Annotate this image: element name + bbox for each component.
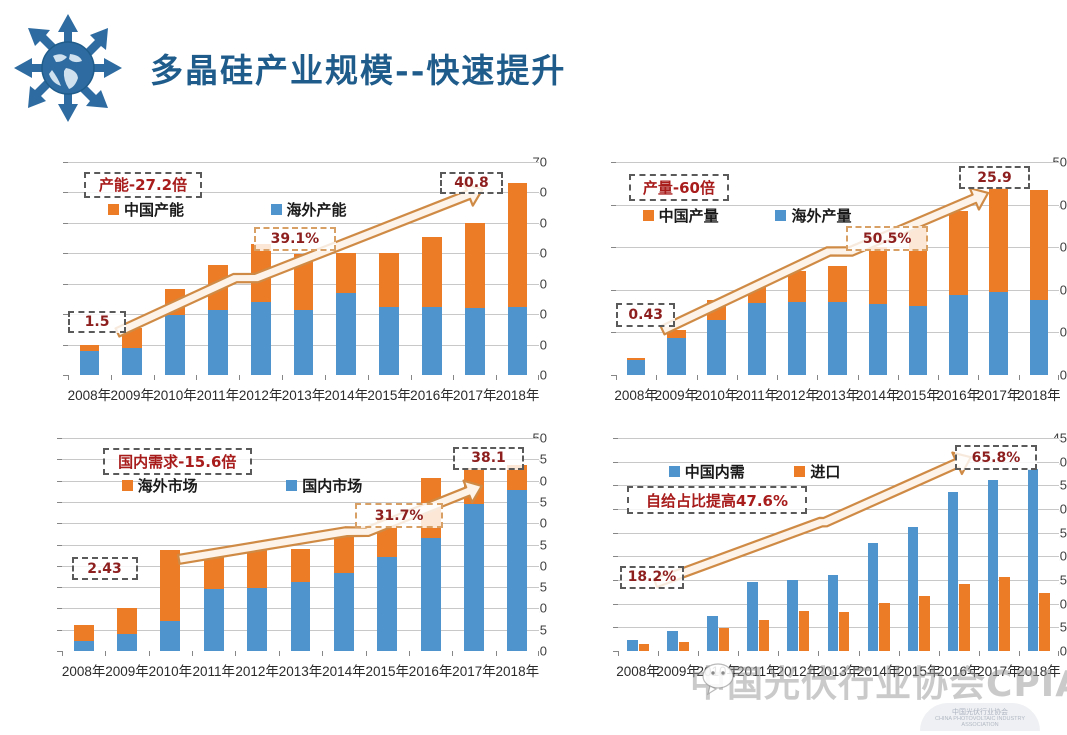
bar-segment bbox=[122, 348, 142, 375]
bar-segment bbox=[788, 302, 807, 375]
x-axis-tick-label: 2012年 bbox=[775, 384, 819, 404]
bar-series-2 bbox=[959, 584, 969, 651]
bar-segment bbox=[294, 310, 314, 375]
x-axis-tick-label: 2016年 bbox=[937, 384, 981, 404]
x-axis-tick-label: 2016年 bbox=[409, 660, 453, 680]
x-axis-tick-label: 2012年 bbox=[239, 384, 283, 404]
bar-segment bbox=[989, 292, 1008, 375]
x-axis-tick-label: 2017年 bbox=[977, 384, 1021, 404]
callout-start-value: 2.43 bbox=[72, 557, 138, 580]
x-axis-tick-mark bbox=[325, 375, 326, 380]
bar-series-1 bbox=[627, 640, 637, 651]
bar-series-1 bbox=[988, 480, 998, 651]
callout-text: 31.7% bbox=[375, 508, 424, 524]
chart-panel-output: 010203040502008年2009年2010年2011年2012年2013… bbox=[578, 152, 1067, 417]
bar-segment bbox=[247, 588, 267, 651]
callout-mid-share: 31.7% bbox=[355, 503, 442, 528]
association-seal-line2: CHINA PHOTOVOLTAIC INDUSTRY ASSOCIATION bbox=[930, 716, 1030, 728]
bar-segment bbox=[949, 295, 968, 375]
bar-series-2 bbox=[999, 577, 1009, 651]
callout-end-value: 38.1 bbox=[453, 447, 524, 470]
bar-segment bbox=[334, 573, 354, 651]
legend-swatch-icon bbox=[271, 204, 282, 215]
gridline bbox=[68, 162, 539, 163]
bar-segment bbox=[464, 468, 484, 504]
callout-text: 40.8 bbox=[454, 175, 489, 191]
x-axis-tick-label: 2009年 bbox=[655, 384, 699, 404]
bar-segment bbox=[1030, 300, 1049, 375]
x-axis-tick-mark bbox=[656, 375, 657, 380]
x-axis-tick-label: 2014年 bbox=[325, 384, 369, 404]
x-axis-tick-mark bbox=[978, 375, 979, 380]
bar-segment bbox=[208, 265, 228, 311]
x-axis-tick-mark bbox=[618, 651, 619, 656]
bar-segment bbox=[117, 634, 137, 651]
callout-text: 2.43 bbox=[87, 561, 122, 577]
x-axis-tick-label: 2009年 bbox=[110, 384, 154, 404]
x-axis-tick-label: 2011年 bbox=[736, 384, 779, 404]
x-axis-tick-mark bbox=[898, 375, 899, 380]
chart-panel-capacity: 0102030405060702008年2009年2010年2011年2012年… bbox=[22, 152, 547, 417]
callout-growth-multiple: 国内需求-15.6倍 bbox=[103, 448, 252, 475]
x-axis-tick-label: 2014年 bbox=[322, 660, 366, 680]
bar-segment bbox=[208, 310, 228, 375]
x-axis-tick-label: 2017年 bbox=[453, 384, 497, 404]
bar-segment bbox=[204, 550, 224, 589]
bar-segment bbox=[508, 183, 528, 307]
x-axis-tick-mark bbox=[149, 651, 150, 656]
bar-segment bbox=[828, 302, 847, 375]
chart-legend-item: 中国内需 bbox=[669, 461, 745, 482]
bar-segment bbox=[667, 330, 686, 339]
x-axis-tick-label: 2015年 bbox=[365, 660, 409, 680]
callout-text: 25.9 bbox=[977, 170, 1012, 186]
legend-swatch-icon bbox=[643, 210, 654, 221]
callout-text: 50.5% bbox=[863, 231, 912, 247]
bar-series-1 bbox=[828, 575, 838, 651]
x-axis-tick-label: 2013年 bbox=[282, 384, 326, 404]
legend-label: 海外市场 bbox=[138, 475, 198, 496]
bar-segment bbox=[989, 188, 1008, 292]
callout-growth-multiple: 产能-27.2倍 bbox=[84, 172, 201, 198]
bar-segment bbox=[507, 490, 527, 651]
bar-segment bbox=[247, 547, 267, 588]
legend-swatch-icon bbox=[122, 480, 133, 491]
bar-segment bbox=[291, 582, 311, 651]
x-axis-tick-mark bbox=[322, 651, 323, 656]
x-axis-tick-mark bbox=[737, 375, 738, 380]
callout-end-value: 25.9 bbox=[959, 166, 1029, 189]
x-axis-tick-label: 2008年 bbox=[62, 660, 106, 680]
globe-arrows-logo bbox=[8, 8, 128, 128]
bar-segment bbox=[627, 358, 646, 360]
bar-segment bbox=[909, 306, 928, 375]
x-axis-tick-mark bbox=[68, 375, 69, 380]
bar-series-2 bbox=[759, 620, 769, 651]
callout-text: 18.2% bbox=[628, 569, 677, 585]
bar-series-2 bbox=[879, 603, 889, 651]
legend-swatch-icon bbox=[794, 466, 805, 477]
bar-segment bbox=[334, 533, 354, 574]
bar-segment bbox=[80, 351, 100, 375]
bar-segment bbox=[160, 550, 180, 621]
bar-segment bbox=[422, 237, 442, 307]
x-axis-tick-mark bbox=[235, 651, 236, 656]
callout-text: 38.1 bbox=[471, 450, 506, 466]
bar-segment bbox=[422, 307, 442, 375]
x-axis-tick-mark bbox=[817, 375, 818, 380]
callout-mid-share: 50.5% bbox=[846, 226, 928, 251]
bar-segment bbox=[465, 308, 485, 375]
x-axis-tick-label: 2016年 bbox=[410, 384, 454, 404]
bar-segment bbox=[949, 211, 968, 295]
gridline bbox=[616, 162, 1059, 163]
x-axis-tick-mark bbox=[938, 375, 939, 380]
bar-segment bbox=[707, 300, 726, 320]
bar-series-1 bbox=[787, 580, 797, 651]
callout-start-share: 18.2% bbox=[620, 566, 684, 589]
x-axis-tick-mark bbox=[366, 651, 367, 656]
x-axis-tick-mark bbox=[697, 375, 698, 380]
bar-series-1 bbox=[868, 543, 878, 651]
x-axis-tick-mark bbox=[409, 651, 410, 656]
bar-series-2 bbox=[719, 628, 729, 651]
bar-segment bbox=[828, 266, 847, 301]
bar-series-2 bbox=[679, 642, 689, 651]
x-axis-tick-mark bbox=[496, 375, 497, 380]
chart-legend-item: 海外产能 bbox=[271, 199, 347, 220]
callout-text: 产能-27.2倍 bbox=[99, 174, 187, 195]
callout-text: 65.8% bbox=[972, 450, 1021, 466]
legend-swatch-icon bbox=[108, 204, 119, 215]
x-axis-tick-label: 2018年 bbox=[496, 384, 540, 404]
chart-legend-item: 国内市场 bbox=[286, 475, 362, 496]
x-axis-tick-label: 2008年 bbox=[616, 660, 660, 680]
x-axis-tick-mark bbox=[538, 651, 539, 656]
callout-mid-share: 39.1% bbox=[254, 227, 336, 251]
bar-series-1 bbox=[747, 582, 757, 651]
x-axis-tick-mark bbox=[411, 375, 412, 380]
x-axis-tick-mark bbox=[1019, 375, 1020, 380]
x-axis-tick-mark bbox=[105, 651, 106, 656]
bar-series-1 bbox=[707, 616, 717, 651]
bar-segment bbox=[869, 247, 888, 304]
chart-legend-item: 中国产能 bbox=[108, 199, 184, 220]
bar-series-2 bbox=[639, 644, 649, 651]
chart-panel-demand: 051015202530354045502008年2009年2010年2011年… bbox=[22, 428, 547, 693]
bar-segment bbox=[379, 253, 399, 306]
bar-segment bbox=[74, 641, 94, 651]
callout-text: 0.43 bbox=[628, 307, 663, 323]
x-axis-tick-mark bbox=[62, 651, 63, 656]
chart-legend-item: 海外市场 bbox=[122, 475, 198, 496]
bar-series-2 bbox=[799, 611, 809, 651]
bar-segment bbox=[117, 608, 137, 633]
x-axis-tick-mark bbox=[658, 651, 659, 656]
bar-segment bbox=[80, 345, 100, 351]
callout-growth-multiple: 产量-60倍 bbox=[629, 174, 728, 201]
bar-series-1 bbox=[667, 631, 677, 651]
chart-legend-item: 进口 bbox=[794, 461, 840, 482]
page-title: 多晶硅产业规模--快速提升 bbox=[150, 44, 566, 92]
bar-segment bbox=[336, 293, 356, 375]
x-axis-tick-mark bbox=[1058, 375, 1059, 380]
callout-text: 1.5 bbox=[85, 314, 110, 330]
x-axis-tick-mark bbox=[368, 375, 369, 380]
watermark-text: 中国光伏行业协会CPIA bbox=[690, 655, 1067, 707]
bar-segment bbox=[377, 557, 397, 651]
legend-label: 海外产量 bbox=[791, 205, 851, 226]
x-axis-tick-label: 2018年 bbox=[1017, 384, 1061, 404]
x-axis-tick-mark bbox=[192, 651, 193, 656]
x-axis-tick-mark bbox=[496, 651, 497, 656]
x-axis-tick-mark bbox=[777, 375, 778, 380]
bar-segment bbox=[748, 303, 767, 375]
gridline bbox=[62, 438, 539, 439]
wechat-icon bbox=[700, 662, 740, 696]
bar-segment bbox=[336, 253, 356, 293]
callout-text: 产量-60倍 bbox=[643, 177, 715, 198]
x-axis-tick-label: 2010年 bbox=[153, 384, 197, 404]
legend-swatch-icon bbox=[669, 466, 680, 477]
bar-segment bbox=[464, 504, 484, 651]
bar-series-2 bbox=[919, 596, 929, 651]
bar-segment bbox=[379, 307, 399, 375]
bar-segment bbox=[869, 304, 888, 375]
bar-segment bbox=[160, 621, 180, 651]
chart-panel-selfsupply: 0510152025303540452008年2009年2010年2011年20… bbox=[578, 428, 1067, 693]
bar-segment bbox=[251, 244, 271, 302]
bar-segment bbox=[1030, 190, 1049, 300]
bar-series-1 bbox=[908, 527, 918, 651]
bar-series-2 bbox=[1039, 593, 1049, 651]
chart-legend-item: 海外产量 bbox=[775, 205, 851, 226]
legend-label: 中国产量 bbox=[659, 205, 719, 226]
legend-swatch-icon bbox=[286, 480, 297, 491]
bar-segment bbox=[165, 289, 185, 314]
callout-text: 自给占比提高47.6% bbox=[646, 490, 788, 511]
legend-label: 海外产能 bbox=[287, 199, 347, 220]
gridline bbox=[618, 438, 1059, 439]
x-axis-tick-label: 2011年 bbox=[193, 660, 236, 680]
legend-label: 中国产能 bbox=[124, 199, 184, 220]
legend-label: 进口 bbox=[810, 461, 840, 482]
x-axis-tick-label: 2013年 bbox=[279, 660, 323, 680]
x-axis-tick-mark bbox=[239, 375, 240, 380]
bar-segment bbox=[667, 338, 686, 375]
bar-segment bbox=[627, 360, 646, 375]
x-axis-tick-mark bbox=[858, 375, 859, 380]
callout-end-value: 40.8 bbox=[440, 172, 503, 194]
bar-segment bbox=[204, 589, 224, 651]
x-axis-tick-mark bbox=[279, 651, 280, 656]
x-axis-tick-mark bbox=[538, 375, 539, 380]
x-axis-tick-label: 2012年 bbox=[235, 660, 279, 680]
x-axis-tick-label: 2013年 bbox=[816, 384, 860, 404]
bar-segment bbox=[508, 307, 528, 375]
bar-segment bbox=[707, 320, 726, 375]
bar-series-1 bbox=[948, 492, 958, 651]
bar-series-2 bbox=[839, 612, 849, 651]
bar-segment bbox=[74, 625, 94, 640]
legend-label: 中国内需 bbox=[685, 461, 745, 482]
x-axis-tick-label: 2015年 bbox=[367, 384, 411, 404]
x-axis-tick-label: 2009年 bbox=[105, 660, 149, 680]
x-axis-tick-mark bbox=[111, 375, 112, 380]
callout-text: 39.1% bbox=[271, 231, 320, 247]
x-axis-tick-label: 2008年 bbox=[614, 384, 658, 404]
x-axis-tick-label: 2014年 bbox=[856, 384, 900, 404]
x-axis-tick-label: 2015年 bbox=[896, 384, 940, 404]
x-axis-tick-label: 2010年 bbox=[149, 660, 193, 680]
bar-segment bbox=[165, 315, 185, 375]
legend-swatch-icon bbox=[775, 210, 786, 221]
legend-label: 国内市场 bbox=[302, 475, 362, 496]
bar-segment bbox=[251, 302, 271, 375]
x-axis-tick-label: 2018年 bbox=[496, 660, 540, 680]
x-axis-tick-mark bbox=[196, 375, 197, 380]
bar-segment bbox=[788, 271, 807, 302]
callout-start-value: 1.5 bbox=[68, 311, 126, 333]
bar-segment bbox=[465, 223, 485, 308]
bar-series-1 bbox=[1028, 469, 1038, 651]
x-axis-tick-mark bbox=[154, 375, 155, 380]
x-axis-tick-label: 2011年 bbox=[197, 384, 240, 404]
x-axis-tick-label: 2008年 bbox=[68, 384, 112, 404]
x-axis-tick-label: 2017年 bbox=[452, 660, 496, 680]
x-axis-tick-mark bbox=[453, 375, 454, 380]
x-axis-tick-mark bbox=[282, 375, 283, 380]
callout-self-supply-note: 自给占比提高47.6% bbox=[627, 486, 807, 514]
bar-segment bbox=[294, 254, 314, 310]
callout-text: 国内需求-15.6倍 bbox=[118, 451, 236, 472]
chart-legend-item: 中国产量 bbox=[643, 205, 719, 226]
x-axis-tick-label: 2010年 bbox=[695, 384, 739, 404]
x-axis-tick-mark bbox=[616, 375, 617, 380]
bar-segment bbox=[291, 549, 311, 582]
callout-end-share: 65.8% bbox=[955, 445, 1036, 469]
bar-segment bbox=[421, 538, 441, 651]
bar-segment bbox=[748, 285, 767, 303]
x-axis-tick-mark bbox=[452, 651, 453, 656]
slide-header: 多晶硅产业规模--快速提升 bbox=[0, 0, 1067, 140]
callout-start-value: 0.43 bbox=[616, 303, 675, 327]
